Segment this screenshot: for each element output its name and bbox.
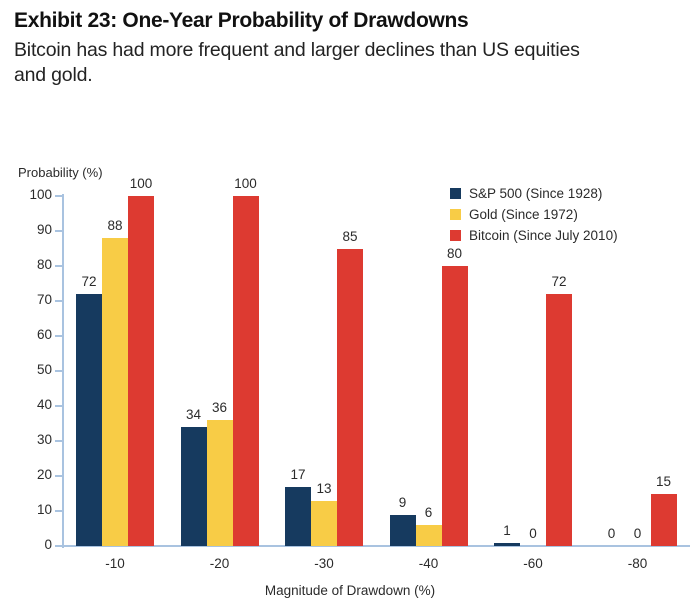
y-axis-tick-label: 30: [22, 432, 52, 447]
y-axis-tick: [55, 475, 63, 477]
y-axis-tick-label: 90: [22, 222, 52, 237]
legend-item[interactable]: Bitcoin (Since July 2010): [450, 226, 618, 245]
y-axis-tick-label: 10: [22, 502, 52, 517]
y-axis-tick: [55, 230, 63, 232]
x-axis-title: Magnitude of Drawdown (%): [0, 583, 700, 598]
bar[interactable]: [207, 420, 233, 546]
y-axis-tick-labels: 1009080706050403020100: [14, 0, 52, 613]
bar[interactable]: [546, 294, 572, 546]
bar-value-label: 36: [201, 400, 239, 415]
y-axis-tick: [55, 335, 63, 337]
bar[interactable]: [337, 249, 363, 547]
bar-value-label: 13: [305, 481, 343, 496]
y-axis-tick-label: 70: [22, 292, 52, 307]
y-axis-tick: [55, 300, 63, 302]
plot-area: [63, 196, 690, 546]
legend-item[interactable]: Gold (Since 1972): [450, 205, 618, 224]
y-axis-tick: [55, 440, 63, 442]
x-axis-tick-label: -60: [493, 556, 573, 571]
bar[interactable]: [181, 427, 207, 546]
legend-item[interactable]: S&P 500 (Since 1928): [450, 184, 618, 203]
bar-value-label: 100: [227, 176, 265, 191]
bar[interactable]: [128, 196, 154, 546]
legend-item-label: S&P 500 (Since 1928): [469, 186, 602, 201]
y-axis-tick-label: 60: [22, 327, 52, 342]
legend-item-label: Bitcoin (Since July 2010): [469, 228, 618, 243]
x-axis-tick-label: -40: [389, 556, 469, 571]
x-axis-tick-label: -30: [284, 556, 364, 571]
bar-value-label: 0: [619, 526, 657, 541]
legend-swatch-icon: [450, 209, 461, 220]
bar[interactable]: [416, 525, 442, 546]
y-axis-tick-label: 100: [22, 187, 52, 202]
bar-value-label: 88: [96, 218, 134, 233]
bar-value-label: 6: [410, 505, 448, 520]
legend-swatch-icon: [450, 230, 461, 241]
legend-swatch-icon: [450, 188, 461, 199]
y-axis-tick-label: 20: [22, 467, 52, 482]
y-axis-tick: [55, 545, 63, 547]
y-axis-tick-label: 0: [22, 537, 52, 552]
y-axis-tick-label: 80: [22, 257, 52, 272]
chart-legend: S&P 500 (Since 1928)Gold (Since 1972)Bit…: [450, 184, 618, 247]
bar-value-label: 17: [279, 467, 317, 482]
y-axis-tick: [55, 370, 63, 372]
bar-value-label: 72: [540, 274, 578, 289]
x-axis-tick-label: -20: [180, 556, 260, 571]
bar-value-label: 72: [70, 274, 108, 289]
bar[interactable]: [233, 196, 259, 546]
y-axis-tick: [55, 510, 63, 512]
x-axis-tick-label: -10: [75, 556, 155, 571]
bar-chart: Probability (%) 1009080706050403020100 -…: [0, 0, 700, 613]
bar-value-label: 80: [436, 246, 474, 261]
bar-value-label: 85: [331, 229, 369, 244]
y-axis-tick-label: 50: [22, 362, 52, 377]
y-axis-tick-label: 40: [22, 397, 52, 412]
y-axis-tick: [55, 405, 63, 407]
bar[interactable]: [76, 294, 102, 546]
bar-value-label: 15: [645, 474, 683, 489]
bar[interactable]: [442, 266, 468, 546]
bar[interactable]: [311, 501, 337, 547]
y-axis-tick: [55, 195, 63, 197]
bar-value-label: 0: [514, 526, 552, 541]
bar[interactable]: [494, 543, 520, 547]
x-axis-tick-label: -80: [598, 556, 678, 571]
bar-value-label: 100: [122, 176, 160, 191]
legend-item-label: Gold (Since 1972): [469, 207, 578, 222]
y-axis-tick: [55, 265, 63, 267]
